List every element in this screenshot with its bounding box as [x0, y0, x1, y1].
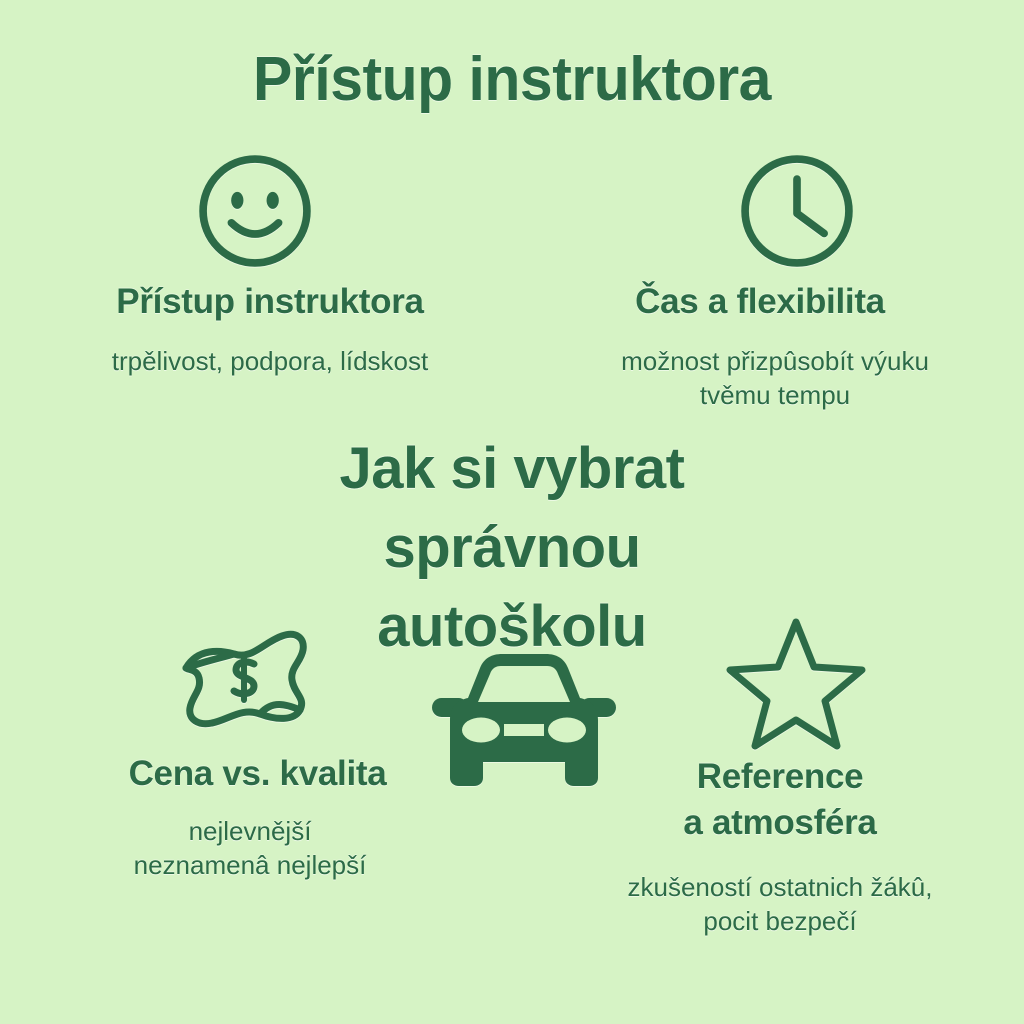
quadrant-subtitle-reference-a-atmosfera: zkušeností ostatnich žákû, pocit bezpečí: [540, 870, 1020, 939]
car-front-icon: [428, 650, 620, 800]
quadrant-title-pristup-instruktora: Přístup instruktora: [10, 284, 530, 320]
page-title: Přístup instruktora: [26, 48, 999, 112]
quadrant-subtitle-cas-a-flexibilita: možnost přizpûsobít výuku tvěmu tempu: [540, 344, 1010, 413]
clock-icon: [738, 152, 856, 270]
infographic-poster: Přístup instruktora Přístup instruktora …: [0, 0, 1024, 1024]
quadrant-subtitle-pristup-instruktora: trpělivost, podpora, lídskost: [10, 344, 530, 378]
center-headline: Jak si vybrat správnou autoškolu: [0, 430, 1024, 667]
smiley-face-icon: [196, 152, 314, 270]
quadrant-subtitle-cena-vs-kvalita: nejlevnější neznamenâ nejlepší: [10, 814, 490, 883]
quadrant-title-cas-a-flexibilita: Čas a flexibilita: [500, 284, 1020, 320]
